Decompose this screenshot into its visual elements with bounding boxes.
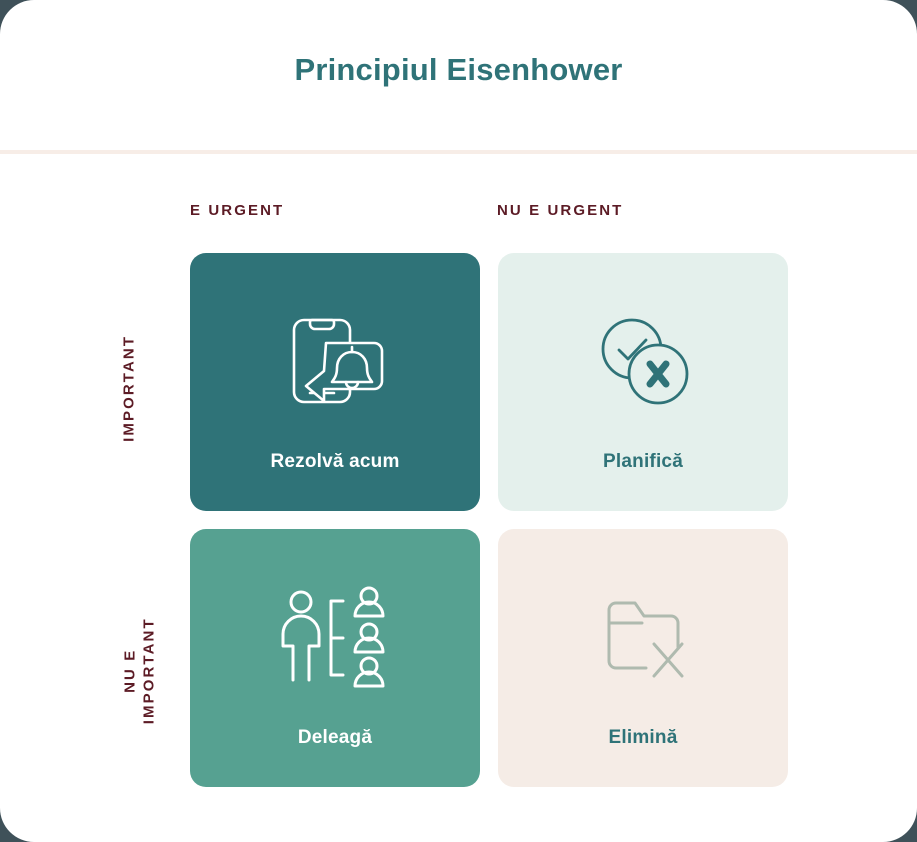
check-and-cross-circles-icon <box>498 301 788 421</box>
column-header-not-urgent: NU E URGENT <box>497 202 623 219</box>
quadrant-label-eliminate: Elimină <box>498 727 788 749</box>
quadrant-label-do-now: Rezolvă acum <box>190 451 480 473</box>
infographic-card: Principiul Eisenhower E URGENT NU E URGE… <box>0 0 917 842</box>
folder-remove-icon <box>498 577 788 697</box>
quadrant-do-now[interactable]: Rezolvă acum <box>190 253 480 511</box>
delegate-people-icon <box>190 577 480 697</box>
phone-notification-bell-icon <box>190 301 480 421</box>
quadrant-label-plan: Planifică <box>498 451 788 473</box>
row-header-not-important-line1: NU E <box>121 521 140 821</box>
page-title: Principiul Eisenhower <box>0 52 917 88</box>
column-header-urgent: E URGENT <box>190 202 284 219</box>
quadrant-label-delegate: Deleagă <box>190 727 480 749</box>
quadrant-delegate[interactable]: Deleagă <box>190 529 480 787</box>
row-header-not-important: NU E IMPORTANT <box>121 521 159 821</box>
row-header-not-important-line2: IMPORTANT <box>140 521 159 821</box>
header: Principiul Eisenhower <box>0 0 917 152</box>
row-header-important: IMPORTANT <box>121 238 140 538</box>
quadrant-plan[interactable]: Planifică <box>498 253 788 511</box>
quadrant-eliminate[interactable]: Elimină <box>498 529 788 787</box>
eisenhower-matrix: E URGENT NU E URGENT IMPORTANT NU E IMPO… <box>0 152 917 842</box>
